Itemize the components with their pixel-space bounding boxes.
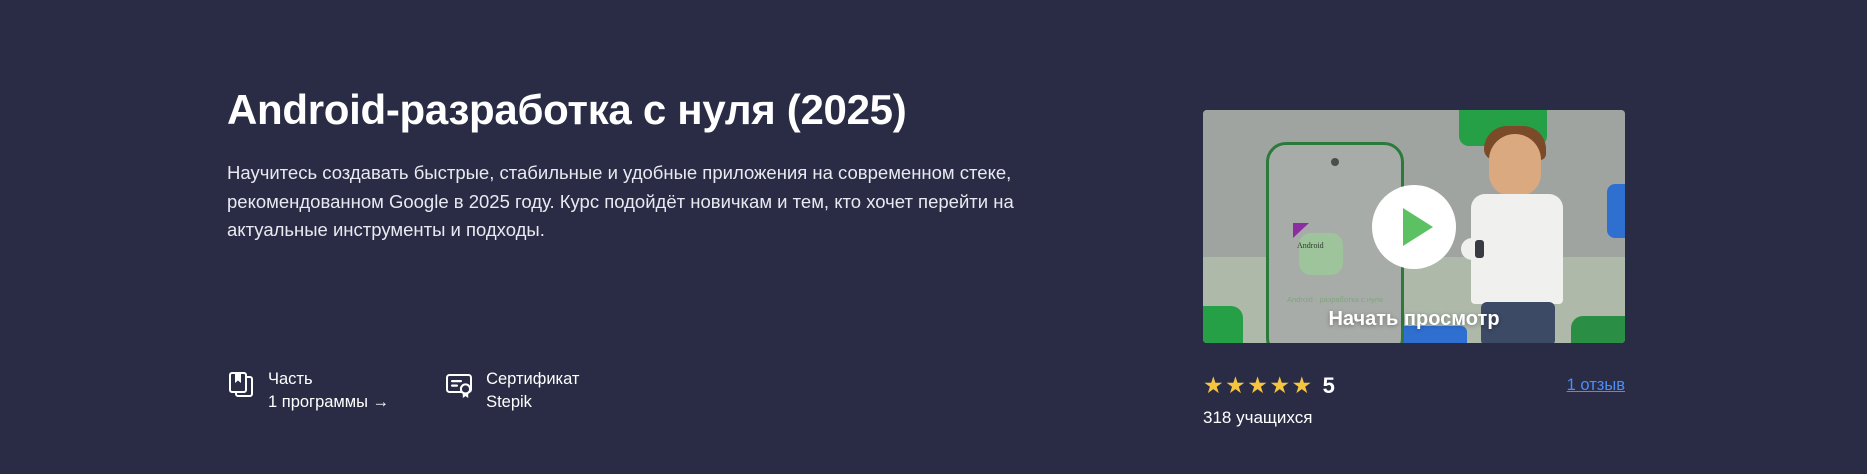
meta-item-certificate-label: Сертификат	[486, 370, 579, 388]
course-video-column: Android Android - разработка с нуля Нача…	[1203, 110, 1625, 343]
rating-row: ★★★★★ 5 1 отзыв	[1203, 374, 1625, 397]
page-title: Android-разработка с нуля (2025)	[227, 86, 1127, 133]
documents-stack-icon	[227, 370, 255, 400]
meta-item-certificate-text: Сертификат Stepik	[486, 368, 579, 415]
certificate-icon	[445, 370, 473, 400]
meta-item-program-text: Часть 1 программы →	[268, 368, 389, 415]
phone-screen-caption: Android - разработка с нуля	[1279, 295, 1391, 306]
meta-item-program[interactable]: Часть 1 программы →	[227, 368, 389, 415]
rating-value: 5	[1323, 375, 1335, 397]
meta-item-program-value[interactable]: 1 программы →	[268, 391, 389, 414]
android-logo-label: Android	[1297, 241, 1324, 250]
meta-item-certificate[interactable]: Сертификат Stepik	[445, 368, 579, 415]
reviews-link[interactable]: 1 отзыв	[1567, 376, 1625, 395]
rating-summary: ★★★★★ 5	[1203, 374, 1335, 397]
rating-stars: ★★★★★	[1203, 374, 1314, 397]
play-icon[interactable]	[1372, 185, 1456, 269]
meta-item-certificate-value: Stepik	[486, 391, 579, 414]
learners-count: 318 учащихся	[1203, 408, 1312, 428]
meta-item-program-label: Часть	[268, 370, 313, 388]
play-triangle-glyph	[1403, 208, 1433, 246]
course-meta-row: Часть 1 программы → Сертификат Stepik	[227, 368, 580, 415]
course-description: Научитесь создавать быстрые, стабильные …	[227, 159, 1097, 245]
course-hero-page: Android-разработка с нуля (2025) Научите…	[0, 0, 1867, 474]
video-thumbnail[interactable]: Android Android - разработка с нуля Нача…	[1203, 110, 1625, 343]
course-info-column: Android-разработка с нуля (2025) Научите…	[227, 86, 1127, 245]
